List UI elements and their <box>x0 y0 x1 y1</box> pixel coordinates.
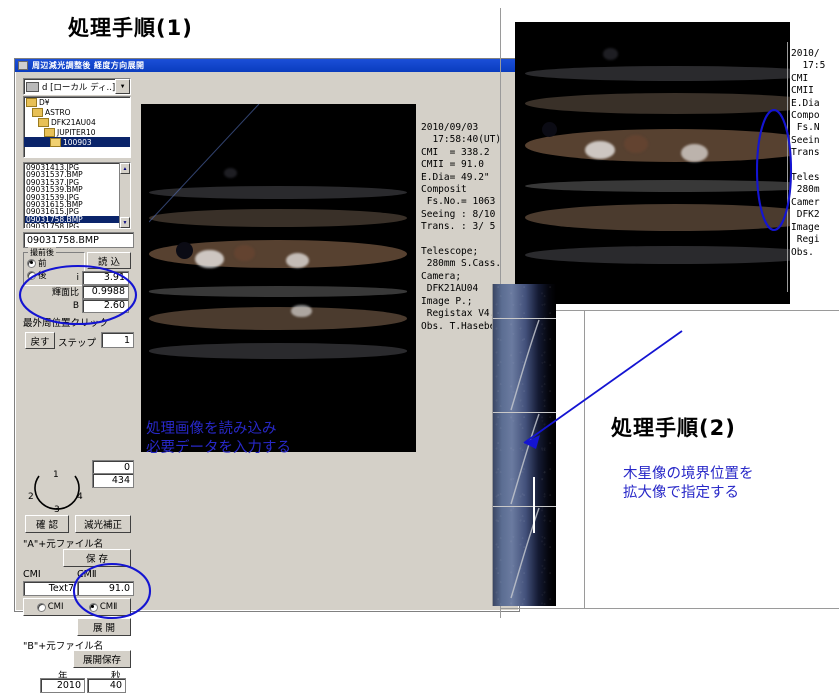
white-oval <box>681 144 708 162</box>
limb-profile-curves <box>493 314 556 606</box>
drive-select-value: d [ローカル ディ..] <box>42 81 115 93</box>
metric-ratio-row: 輝面比 0.9988 <box>39 285 129 298</box>
folder-icon <box>38 118 49 127</box>
confirm-button[interactable]: 確 認 <box>25 515 69 533</box>
strip-divider <box>584 310 585 608</box>
radio-icon <box>37 603 46 612</box>
save-button[interactable]: 保 存 <box>63 549 131 567</box>
radio-cm1-label: CMⅠ <box>48 602 64 612</box>
radio-icon <box>27 271 36 280</box>
jupiter-disk-zoom <box>525 22 790 304</box>
zone <box>149 286 407 296</box>
radio-icon <box>89 603 98 612</box>
directory-tree[interactable]: D¥ ASTRO DFK21AU04 JUPITER10 100903 <box>23 96 131 158</box>
image-processing-window: 周辺減光調整後 経度方向展開 d [ローカル ディ..] ▼ D¥ ASTRO … <box>14 58 520 612</box>
dial-number: 4 <box>77 492 83 502</box>
expand-save-button[interactable]: 展開保存 <box>73 650 131 668</box>
satellite-shadow-zoom <box>542 122 557 137</box>
white-oval <box>291 305 312 318</box>
tree-item-label: D¥ <box>39 98 50 107</box>
drive-icon <box>26 82 39 92</box>
folder-icon <box>32 108 43 117</box>
observation-data-text-clipped: 2010/ 17:5 CMI CMII E.Dia Compo Fs.N See… <box>791 48 839 259</box>
tree-item-label: ASTRO <box>45 108 71 117</box>
folder-icon <box>50 138 61 147</box>
tree-item-label: JUPITER10 <box>57 128 96 137</box>
metric-b-label: B <box>73 301 79 311</box>
metric-b-row: B 2.60 <box>55 299 129 312</box>
belt <box>525 93 790 114</box>
obs-text-divider <box>787 42 788 292</box>
dial-number: 2 <box>28 492 34 502</box>
click-hint-label: 最外周位置クリック <box>23 315 109 329</box>
metric-ratio-label: 輝面比 <box>52 285 79 298</box>
cursor-marker[interactable] <box>533 477 535 533</box>
rotation-dial[interactable]: 1 2 3 4 <box>29 472 85 518</box>
selected-file-field[interactable]: 09031758.BMP <box>23 232 134 248</box>
scroll-down-arrow-icon[interactable]: ▼ <box>120 217 130 228</box>
tree-item[interactable]: ASTRO <box>24 107 130 117</box>
belt <box>149 307 407 330</box>
tree-item[interactable]: JUPITER10 <box>24 127 130 137</box>
radio-cm2-label: CMⅡ <box>100 602 117 612</box>
jupiter-image-zoom[interactable] <box>515 22 790 304</box>
radio-cm1[interactable]: CMⅠ <box>37 602 64 612</box>
dark-spot <box>624 135 648 153</box>
belt <box>149 343 407 358</box>
step2-heading: 処理手順(2) <box>611 412 736 442</box>
metric-i-value[interactable]: 3.91 <box>82 271 129 285</box>
file-list-scrollbar[interactable]: ▲ ▼ <box>119 163 130 228</box>
radio-after[interactable]: 後 <box>27 269 47 281</box>
magnified-limb-strip[interactable] <box>492 284 556 606</box>
belt <box>525 129 790 162</box>
step-label: ステップ <box>58 335 96 349</box>
second-field[interactable]: 40 <box>87 678 126 693</box>
tree-item[interactable]: D¥ <box>24 97 130 107</box>
radio-before-label: 前 <box>38 257 47 269</box>
dark-spot <box>603 48 618 60</box>
radio-icon <box>27 259 36 268</box>
year-field[interactable]: 2010 <box>40 678 85 693</box>
tree-item-label: 100903 <box>63 138 92 147</box>
cm2-value-field[interactable]: 91.0 <box>77 581 134 596</box>
metric-b-value[interactable]: 2.60 <box>82 299 129 313</box>
radio-before[interactable]: 前 <box>27 257 47 269</box>
window-icon <box>18 61 28 70</box>
metric-i-label: i <box>76 273 79 283</box>
dark-spot <box>234 245 255 260</box>
panel-divider-bottom <box>500 608 839 609</box>
undo-button[interactable]: 戻す <box>25 332 55 349</box>
metric-i-row: i 3.91 <box>55 271 129 284</box>
cm1-value-field[interactable]: Text7 <box>23 581 78 596</box>
cm2-label: CMⅡ <box>77 569 97 580</box>
step-value-field[interactable]: 1 <box>101 332 134 348</box>
metric-ratio-value[interactable]: 0.9988 <box>82 285 129 299</box>
zone <box>525 180 790 192</box>
file-list[interactable]: 09031413.JPG 09031537.BMP 09031537.JPG 0… <box>23 162 131 229</box>
expand-button[interactable]: 展 開 <box>77 618 131 636</box>
step2-annotation: 木星像の境界位置を 拡大像で指定する <box>623 465 754 503</box>
tree-item[interactable]: DFK21AU04 <box>24 117 130 127</box>
jupiter-image-main[interactable] <box>141 104 416 452</box>
dimming-correction-button[interactable]: 減光補正 <box>75 515 131 533</box>
belt <box>525 66 790 81</box>
tree-item-selected[interactable]: 100903 <box>24 137 130 147</box>
drive-select[interactable]: d [ローカル ディ..] ▼ <box>23 78 131 95</box>
scroll-up-arrow-icon[interactable]: ▲ <box>120 163 130 174</box>
window-title: 周辺減光調整後 経度方向展開 <box>32 60 144 71</box>
filename-a-label: "A"+元ファイル名 <box>23 536 103 550</box>
dial-number: 1 <box>53 470 59 480</box>
cm-radio-group[interactable]: CMⅠ CMⅡ <box>23 598 131 616</box>
window-title-bar: 周辺減光調整後 経度方向展開 <box>15 59 519 72</box>
chevron-down-icon[interactable]: ▼ <box>115 79 130 94</box>
white-oval <box>585 141 615 159</box>
folder-icon <box>44 128 55 137</box>
radio-cm2[interactable]: CMⅡ <box>89 602 117 612</box>
file-list-item[interactable]: 09031758.JPG <box>25 223 119 229</box>
counter-bottom-field[interactable]: 434 <box>92 473 134 488</box>
read-button[interactable]: 読 込 <box>87 252 131 269</box>
satellite-shadow <box>176 242 193 259</box>
step1-annotation: 処理画像を読み込み 必要データを入力する <box>146 420 291 458</box>
belt <box>525 204 790 231</box>
belt <box>525 246 790 264</box>
folder-icon <box>26 98 37 107</box>
tree-item-label: DFK21AU04 <box>51 118 96 127</box>
step1-heading: 処理手順(1) <box>68 12 193 42</box>
radio-after-label: 後 <box>38 269 47 281</box>
scan-line <box>149 104 299 224</box>
cm1-label: CMⅠ <box>23 569 41 580</box>
dial-number: 3 <box>54 505 60 515</box>
